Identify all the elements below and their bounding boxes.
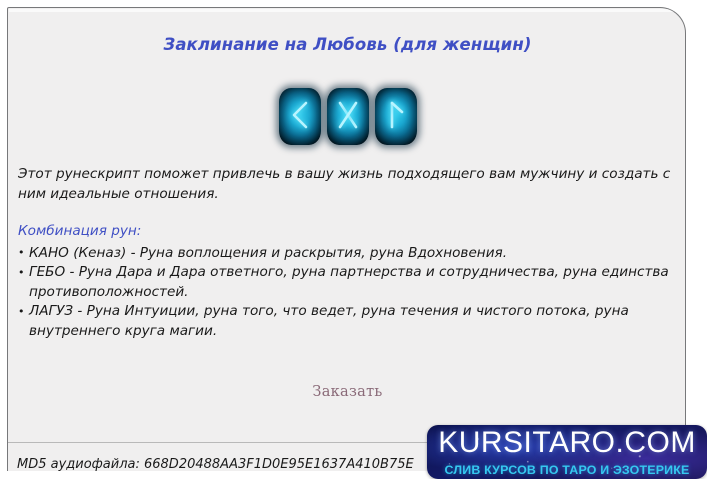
rune-stone-kano — [279, 88, 321, 145]
rune-kano-icon — [289, 100, 311, 134]
combination-heading: Комбинация рун: — [18, 222, 678, 242]
rune-row — [8, 88, 686, 145]
spell-card: Заклинание на Любовь (для женщин) — [7, 7, 686, 471]
md5-checksum-text: MD5 аудиофайла: 668D20488AA3F1D0E95E1637… — [17, 457, 414, 471]
rune-stone-gebo — [327, 88, 369, 145]
rune-combination-list: КАНО (Кеназ) - Руна воплощения и раскрыт… — [18, 244, 678, 342]
intro-paragraph: Этот рунескрипт поможет привлечь в вашу … — [18, 165, 678, 204]
rune-stone-laguz — [375, 88, 417, 145]
list-item: ЛАГУЗ - Руна Интуиции, руна того, что ве… — [18, 302, 678, 341]
rune-laguz-icon — [386, 100, 406, 134]
watermark-tagline: СЛИВ КУРСОВ ПО ТАРО И ЭЗОТЕРИКЕ — [427, 463, 707, 477]
page-root: Заклинание на Любовь (для женщин) — [0, 0, 707, 479]
kursitaro-watermark: KURSITARO.COM СЛИВ КУРСОВ ПО ТАРО И ЭЗОТ… — [427, 425, 707, 479]
order-link-wrapper: Заказать — [8, 381, 686, 400]
rune-gebo-icon — [336, 100, 360, 134]
order-link[interactable]: Заказать — [312, 384, 382, 400]
page-title: Заклинание на Любовь (для женщин) — [8, 35, 686, 54]
spell-description: Этот рунескрипт поможет привлечь в вашу … — [18, 165, 678, 341]
list-item: КАНО (Кеназ) - Руна воплощения и раскрыт… — [18, 244, 678, 264]
card-top-highlight — [9, 9, 684, 12]
list-item: ГЕБО - Руна Дара и Дара ответного, руна … — [18, 263, 678, 302]
watermark-site-name: KURSITARO.COM — [427, 426, 707, 460]
